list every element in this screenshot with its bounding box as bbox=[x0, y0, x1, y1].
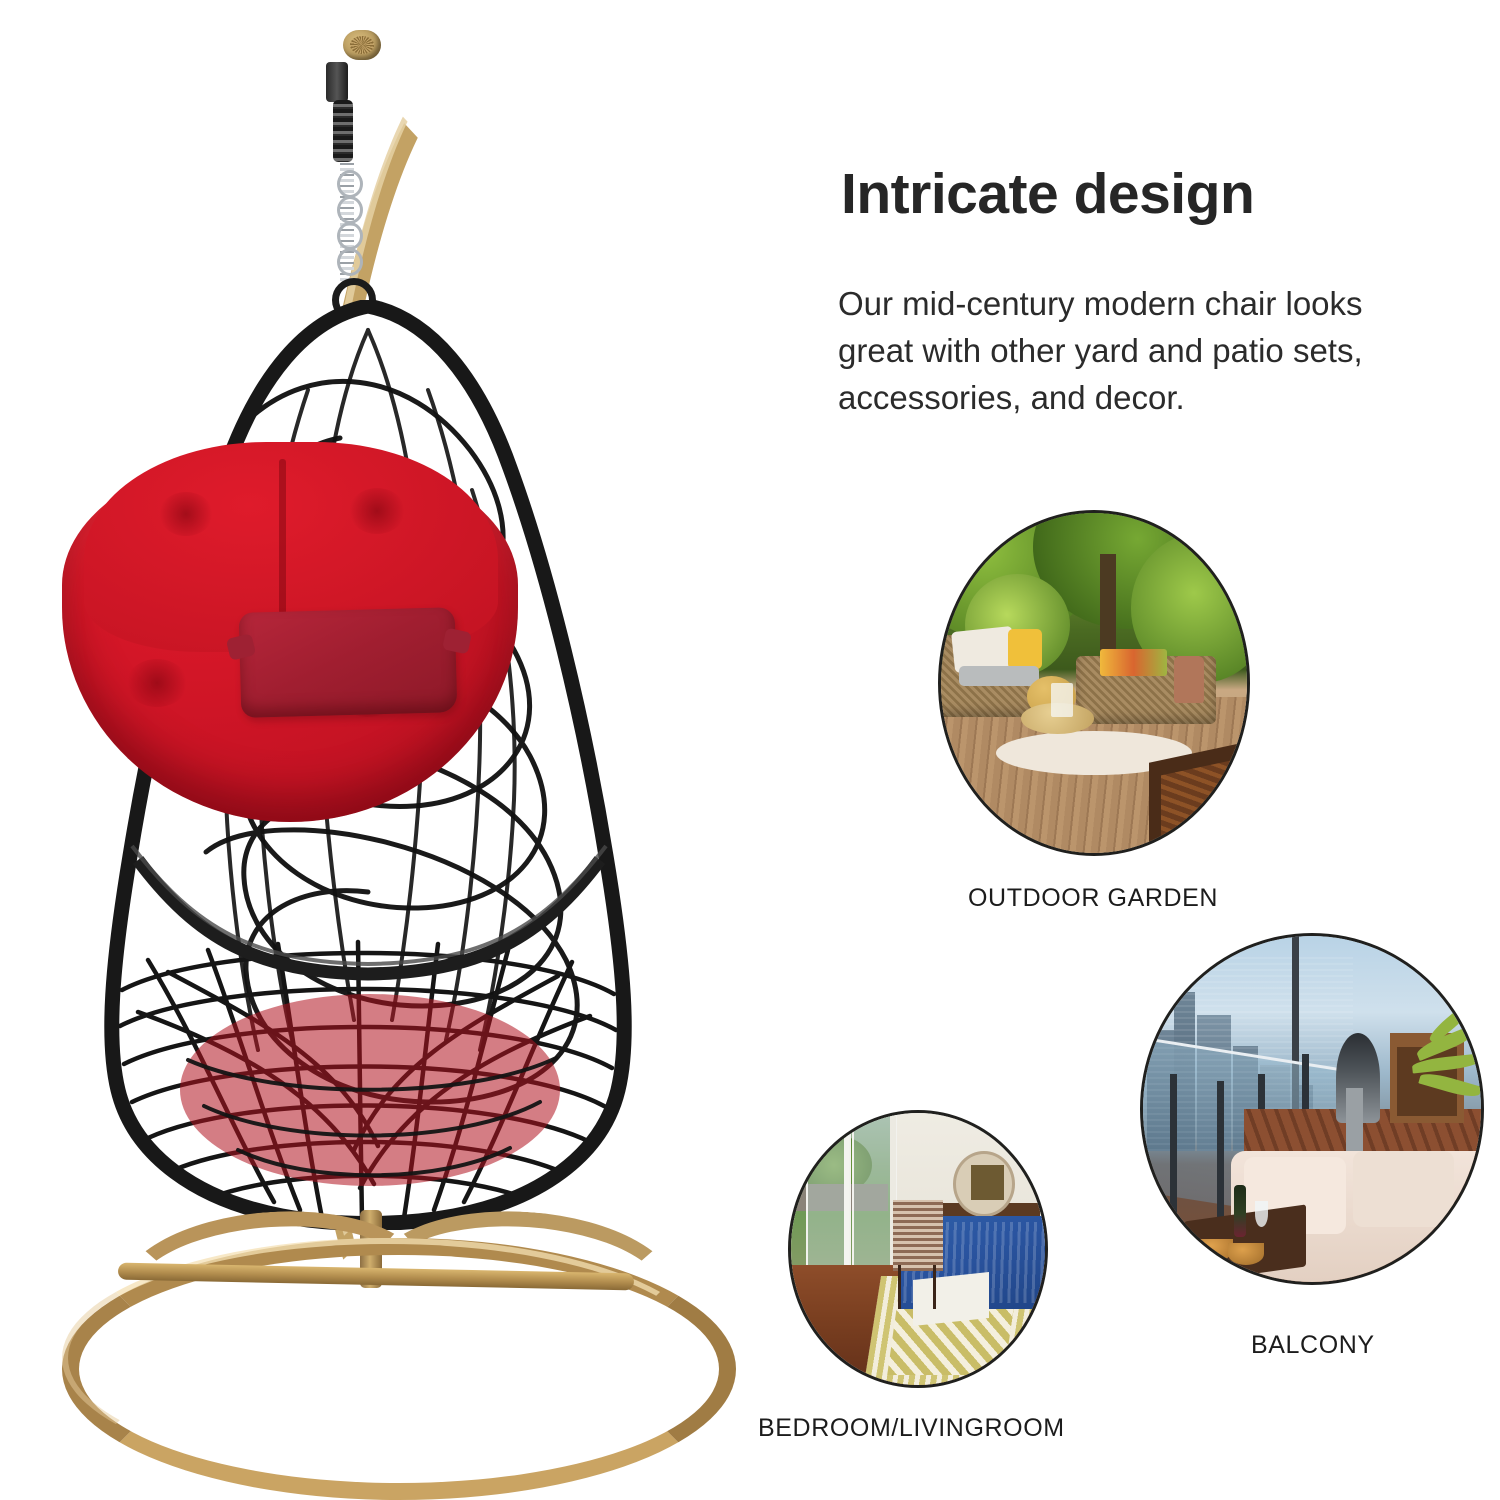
hanger-bracket bbox=[326, 62, 348, 102]
scene-label-outdoor-garden: OUTDOOR GARDEN bbox=[968, 884, 1218, 913]
chain-link bbox=[337, 222, 363, 250]
scene-photo-balcony bbox=[1140, 933, 1484, 1285]
scene-photo-bedroom-livingroom bbox=[788, 1110, 1048, 1388]
bedroom-scene bbox=[791, 1113, 1045, 1385]
product-feature-panel: Intricate design Our mid-century modern … bbox=[0, 0, 1500, 1500]
garden-scene bbox=[941, 513, 1247, 853]
scene-label-bedroom-livingroom: BEDROOM/LIVINGROOM bbox=[758, 1414, 1065, 1443]
stand-cap-swirl-icon bbox=[350, 36, 374, 54]
suspension-spring bbox=[333, 100, 353, 162]
product-hero-image bbox=[0, 0, 780, 1500]
head-pillow bbox=[239, 607, 458, 718]
chain-link bbox=[337, 170, 363, 198]
scene-photo-outdoor-garden bbox=[938, 510, 1250, 856]
chain-link bbox=[337, 196, 363, 224]
balcony-scene bbox=[1143, 936, 1481, 1282]
description-text: Our mid-century modern chair looks great… bbox=[838, 280, 1438, 421]
chain-link bbox=[337, 248, 363, 276]
scene-label-balcony: BALCONY bbox=[1251, 1331, 1375, 1360]
page-title: Intricate design bbox=[841, 163, 1254, 226]
